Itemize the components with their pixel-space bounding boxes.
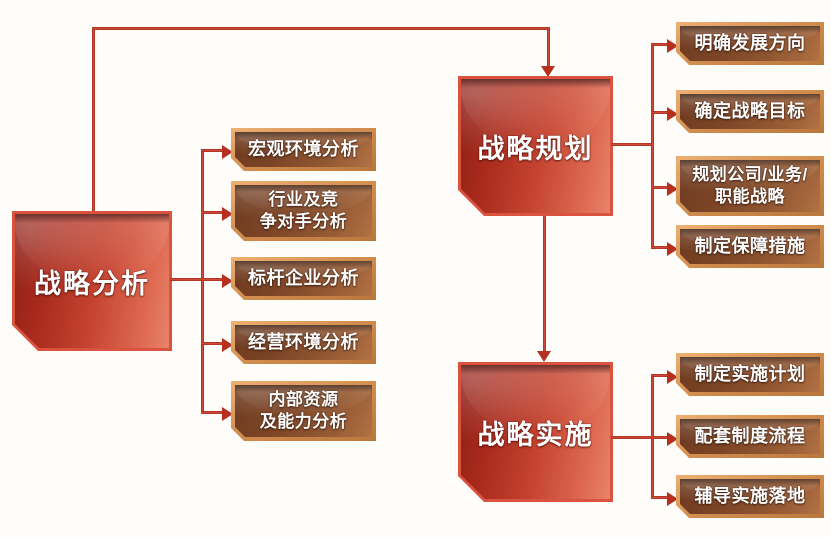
stage-label-strategy-analysis: 战略分析 (34, 262, 150, 301)
connector-analysis-spine (201, 150, 204, 414)
stage-block-strategy-analysis-inner: 战略分析 (15, 214, 169, 348)
stage-block-strategy-implementation[interactable]: 战略实施 (458, 362, 613, 502)
sub-block-supporting-system-process[interactable]: 配套制度流程 (676, 415, 824, 458)
stage-block-strategy-analysis[interactable]: 战略分析 (12, 211, 172, 351)
sub-block-inner: 规划公司/业务/职能战略 (680, 160, 820, 212)
sub-block-benchmark-enterprise-analysis[interactable]: 标杆企业分析 (231, 257, 376, 300)
sub-block-label: 辅导实施落地 (690, 486, 811, 507)
stage-block-strategy-implementation-inner: 战略实施 (461, 365, 610, 499)
sub-block-inner: 宏观环境分析 (235, 132, 372, 167)
sub-block-guide-implementation-landing[interactable]: 辅导实施落地 (676, 475, 824, 518)
sub-block-inner: 制定保障措施 (680, 229, 820, 264)
connector-analysis-up-segment (92, 28, 95, 214)
sub-block-inner: 配套制度流程 (680, 419, 820, 454)
sub-block-formulate-safeguard-measures[interactable]: 制定保障措施 (676, 225, 824, 268)
connector-analysis-stem (170, 278, 204, 281)
sub-block-label: 宏观环境分析 (243, 139, 364, 160)
connector-into-planning-segment (547, 27, 550, 70)
sub-block-inner: 内部资源及能力分析 (235, 385, 372, 437)
sub-block-plan-corporate-business-functional-strategy[interactable]: 规划公司/业务/职能战略 (676, 156, 824, 216)
connector-analysis-top-segment (92, 27, 549, 30)
sub-block-inner: 辅导实施落地 (680, 479, 820, 514)
connector-implementation-stem (611, 436, 654, 439)
stage-label-strategy-implementation: 战略实施 (478, 413, 594, 452)
sub-block-label: 制定保障措施 (690, 236, 811, 257)
sub-block-label: 规划公司/业务/职能战略 (687, 164, 812, 208)
sub-block-label: 内部资源及能力分析 (255, 389, 353, 433)
connector-planning-to-implementation (543, 215, 546, 355)
sub-block-label: 标杆企业分析 (243, 268, 364, 289)
sub-block-define-strategic-goals[interactable]: 确定战略目标 (676, 90, 824, 133)
sub-block-label: 制定实施计划 (690, 364, 811, 385)
sub-block-label: 确定战略目标 (690, 101, 811, 122)
sub-block-label: 行业及竞争对手分析 (255, 189, 353, 233)
sub-block-inner: 制定实施计划 (680, 357, 820, 392)
stage-block-strategy-planning-inner: 战略规划 (461, 79, 610, 213)
sub-block-industry-competitor-analysis[interactable]: 行业及竞争对手分析 (231, 181, 376, 241)
sub-block-label: 配套制度流程 (690, 426, 811, 447)
sub-block-inner: 经营环境分析 (235, 325, 372, 360)
sub-block-operating-environment-analysis[interactable]: 经营环境分析 (231, 321, 376, 364)
diagram-canvas: 战略分析 宏观环境分析 行业及竞争对手分析 标杆企业分析 经营环境分析 (0, 0, 831, 537)
stage-label-strategy-planning: 战略规划 (478, 127, 594, 166)
sub-block-clarify-development-direction[interactable]: 明确发展方向 (676, 22, 824, 65)
connector-planning-spine (651, 44, 654, 248)
sub-block-macro-environment-analysis[interactable]: 宏观环境分析 (231, 128, 376, 171)
sub-block-inner: 确定战略目标 (680, 94, 820, 129)
sub-block-inner: 明确发展方向 (680, 26, 820, 61)
sub-block-internal-resource-capability-analysis[interactable]: 内部资源及能力分析 (231, 381, 376, 441)
connector-planning-stem (611, 143, 654, 146)
sub-block-inner: 行业及竞争对手分析 (235, 185, 372, 237)
sub-block-inner: 标杆企业分析 (235, 261, 372, 296)
sub-block-label: 明确发展方向 (690, 33, 811, 54)
sub-block-formulate-implementation-plan[interactable]: 制定实施计划 (676, 353, 824, 396)
connector-arrow-into-planning (541, 66, 555, 77)
connector-arrow-into-implementation (537, 351, 551, 362)
sub-block-label: 经营环境分析 (243, 332, 364, 353)
stage-block-strategy-planning[interactable]: 战略规划 (458, 76, 613, 216)
